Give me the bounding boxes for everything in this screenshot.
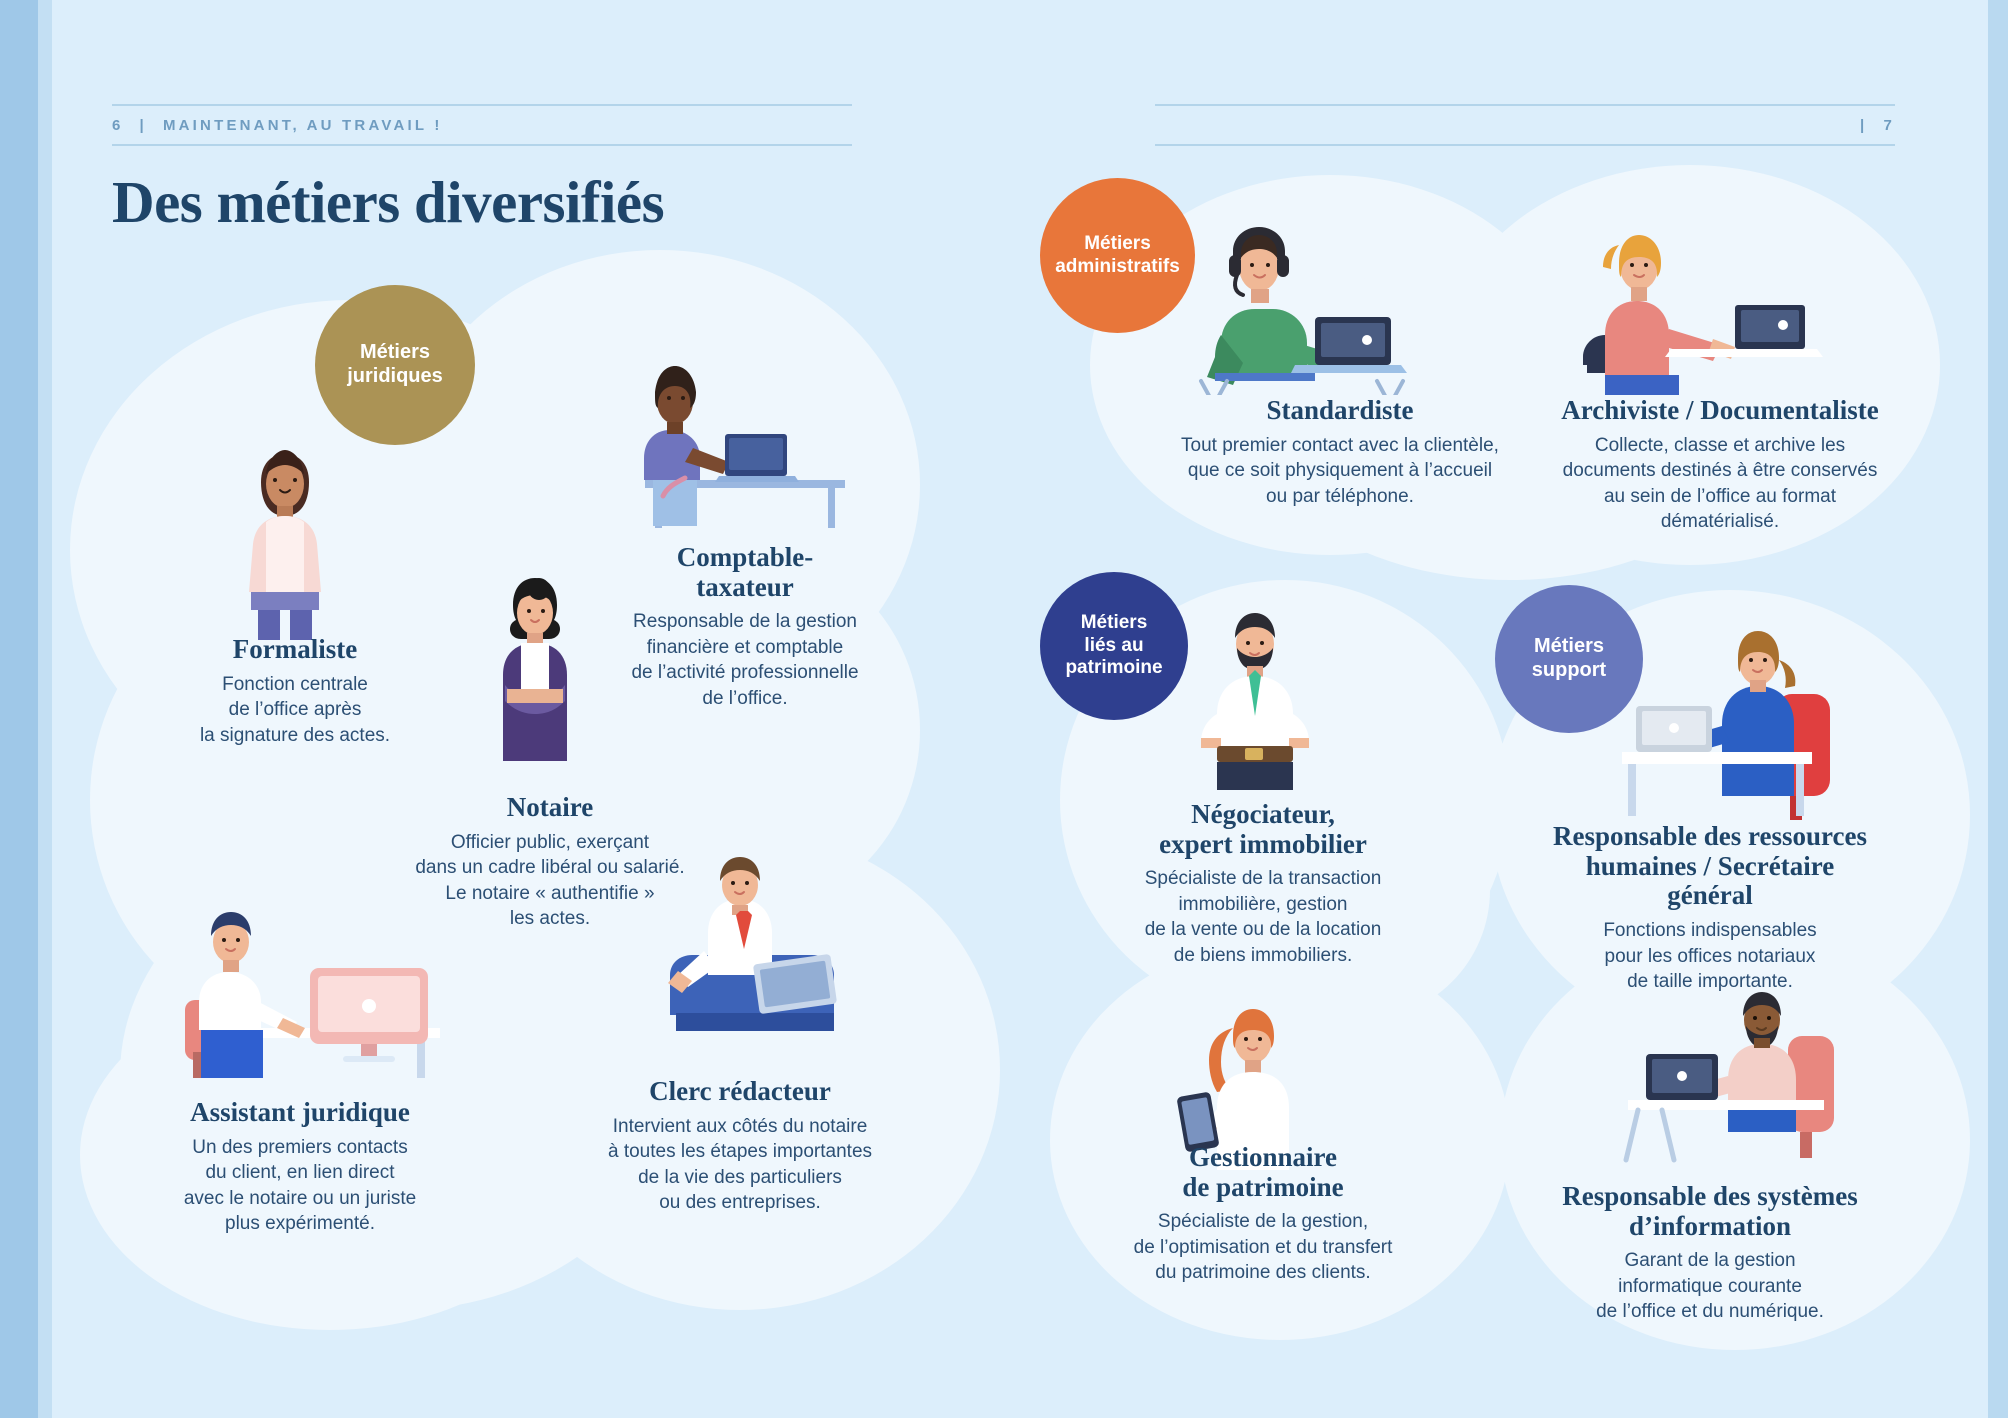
job-card-negociateur: Négociateur,expert immobilier Spécialist… bbox=[1098, 800, 1428, 968]
running-head-separator-left: | bbox=[140, 117, 147, 134]
illustration-negociateur bbox=[1175, 610, 1335, 790]
job-card-standardiste: Standardiste Tout premier contact avec l… bbox=[1165, 396, 1515, 509]
job-title: Notaire bbox=[400, 793, 700, 823]
illustration-standardiste bbox=[1195, 205, 1425, 395]
job-title: Gestionnairede patrimoine bbox=[1098, 1143, 1428, 1202]
running-head-separator-right: | bbox=[1860, 117, 1867, 134]
job-description: Garant de la gestioninformatique courant… bbox=[1545, 1248, 1875, 1324]
badge-line: administratifs bbox=[1055, 256, 1180, 278]
job-card-notaire: Notaire Officier public, exerçantdans un… bbox=[400, 793, 700, 932]
page-edge-right bbox=[1988, 0, 2008, 1418]
job-description: Fonction centralede l’office aprèsla sig… bbox=[150, 672, 440, 748]
badge-line: liés au bbox=[1065, 635, 1162, 657]
job-card-clerc-redacteur: Clerc rédacteur Intervient aux côtés du … bbox=[580, 1077, 900, 1216]
badge-line: support bbox=[1532, 659, 1606, 683]
job-card-gestionnaire-patrimoine: Gestionnairede patrimoine Spécialiste de… bbox=[1098, 1143, 1428, 1286]
job-description: Spécialiste de la gestion,de l’optimisat… bbox=[1098, 1209, 1428, 1285]
job-card-responsable-si: Responsable des systèmesd’information Ga… bbox=[1545, 1182, 1875, 1325]
job-title: Formaliste bbox=[150, 635, 440, 665]
category-badge-juridiques: Métiers juridiques bbox=[315, 285, 475, 445]
job-card-assistant-juridique: Assistant juridique Un des premiers cont… bbox=[150, 1098, 450, 1237]
running-head-right: | 7 bbox=[1155, 104, 1895, 146]
job-description: Responsable de la gestionfinancière et c… bbox=[595, 609, 895, 711]
badge-line: Métiers bbox=[1055, 233, 1180, 255]
illustration-formaliste bbox=[225, 440, 345, 640]
job-title: Assistant juridique bbox=[150, 1098, 450, 1128]
illustration-notaire bbox=[475, 565, 595, 765]
badge-line: patrimoine bbox=[1065, 657, 1162, 679]
job-card-comptable-taxateur: Comptable-taxateur Responsable de la ges… bbox=[595, 543, 895, 711]
job-title: Négociateur,expert immobilier bbox=[1098, 800, 1428, 859]
job-description: Collecte, classe et archive lesdocuments… bbox=[1545, 433, 1895, 535]
category-badge-support: Métiers support bbox=[1495, 585, 1643, 733]
illustration-responsable-si bbox=[1610, 990, 1850, 1170]
page-title: Des métiers diversifiés bbox=[112, 168, 664, 237]
job-card-responsable-rh: Responsable des ressourceshumaines / Sec… bbox=[1545, 822, 1875, 994]
spine-edge-inner bbox=[38, 0, 52, 1418]
illustration-archiviste bbox=[1575, 205, 1825, 395]
job-description: Spécialiste de la transactionimmobilière… bbox=[1098, 866, 1428, 968]
job-title: Clerc rédacteur bbox=[580, 1077, 900, 1107]
job-title: Archiviste / Documentaliste bbox=[1545, 396, 1895, 426]
running-head-label-left: MAINTENANT, AU TRAVAIL ! bbox=[163, 117, 443, 134]
job-description: Tout premier contact avec la clientèle,q… bbox=[1165, 433, 1515, 509]
badge-line: Métiers bbox=[1532, 635, 1606, 659]
magazine-spread: 6 | MAINTENANT, AU TRAVAIL ! | 7 Des mét… bbox=[0, 0, 2008, 1418]
badge-line: Métiers bbox=[347, 341, 443, 365]
job-card-archiviste: Archiviste / Documentaliste Collecte, cl… bbox=[1545, 396, 1895, 535]
job-title: Responsable des ressourceshumaines / Sec… bbox=[1545, 822, 1875, 911]
job-description: Fonctions indispensablespour les offices… bbox=[1545, 918, 1875, 994]
job-card-formaliste: Formaliste Fonction centralede l’office … bbox=[150, 635, 440, 748]
category-badge-patrimoine: Métiers liés au patrimoine bbox=[1040, 572, 1188, 720]
page-number-left: 6 bbox=[112, 117, 124, 134]
job-title: Responsable des systèmesd’information bbox=[1545, 1182, 1875, 1241]
badge-line: Métiers bbox=[1065, 612, 1162, 634]
illustration-comptable-taxateur bbox=[615, 330, 865, 530]
spine-edge-outer bbox=[0, 0, 38, 1418]
job-title: Comptable-taxateur bbox=[595, 543, 895, 602]
job-description: Un des premiers contactsdu client, en li… bbox=[150, 1135, 450, 1237]
job-title: Standardiste bbox=[1165, 396, 1515, 426]
badge-line: juridiques bbox=[347, 365, 443, 389]
job-description: Intervient aux côtés du notaireà toutes … bbox=[580, 1114, 900, 1216]
running-head-left: 6 | MAINTENANT, AU TRAVAIL ! bbox=[112, 104, 852, 146]
page-number-right: 7 bbox=[1883, 117, 1895, 134]
category-badge-administratifs: Métiers administratifs bbox=[1040, 178, 1195, 333]
job-description: Officier public, exerçantdans un cadre l… bbox=[400, 830, 700, 932]
